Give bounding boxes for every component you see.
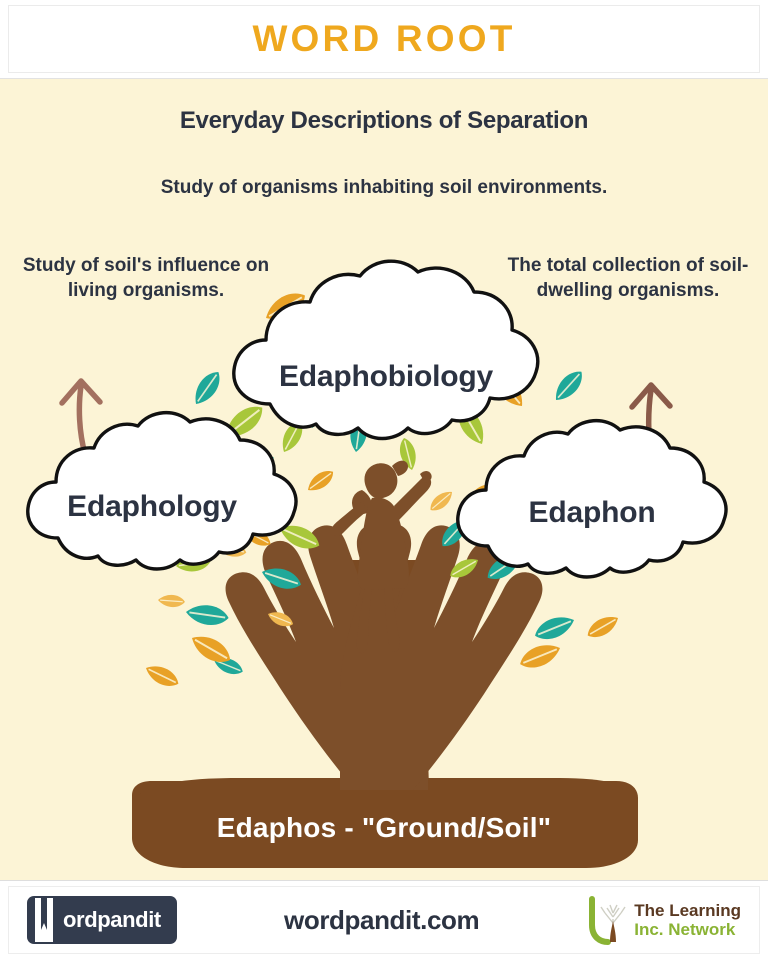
cloud-shape-center [234, 261, 538, 438]
partner-line-1: The Learning [634, 901, 741, 920]
learning-network-text: The Learning Inc. Network [634, 901, 741, 939]
cloud-label-edaphobiology: Edaphobiology [216, 360, 556, 394]
partner-tree-icon [586, 895, 628, 945]
wordpandit-logo-text: ordpandit [63, 907, 161, 933]
learning-network-logo[interactable]: The Learning Inc. Network [586, 895, 741, 945]
footer-frame: ordpandit wordpandit.com The Lea [8, 886, 760, 954]
root-banner-text: Edaphos - "Ground/Soil" [0, 812, 768, 844]
partner-line-2: Inc. Network [634, 920, 741, 939]
cloud-label-edaphology: Edaphology [8, 490, 296, 524]
wordpandit-w-icon [35, 896, 61, 944]
wordpandit-logo[interactable]: ordpandit [27, 896, 177, 944]
cloud-label-edaphon: Edaphon [462, 496, 722, 530]
infographic-page: WORD ROOT Everyday Descriptions of Separ… [0, 0, 768, 960]
footer-band: ordpandit wordpandit.com The Lea [0, 880, 768, 960]
website-url[interactable]: wordpandit.com [284, 905, 479, 936]
